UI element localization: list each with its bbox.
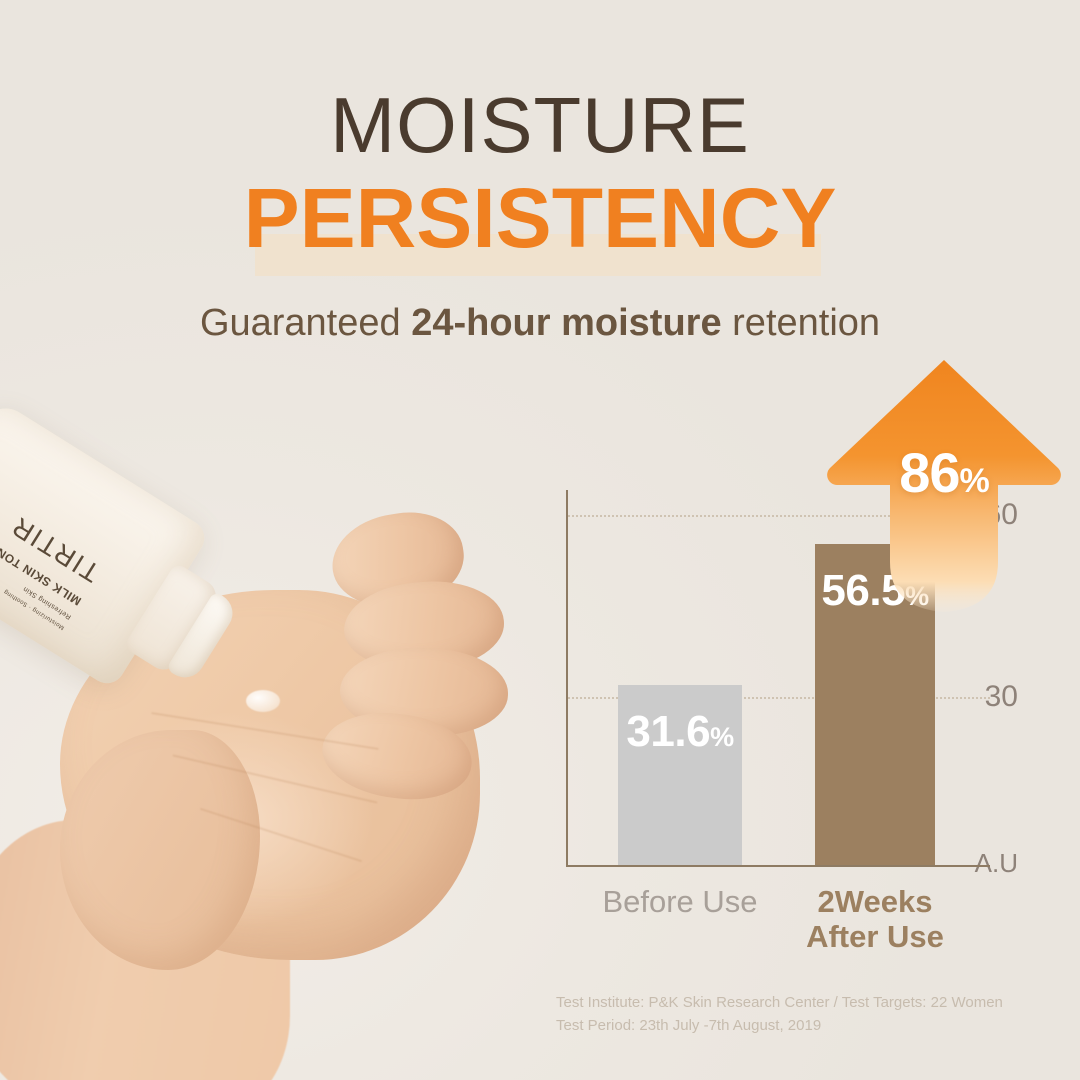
category-label-line-2: After Use [793, 920, 957, 955]
headline-block: MOISTURE PERSISTENCY Guaranteed 24-hour … [0, 88, 1080, 345]
bottle-brand-name: TIRTIR [5, 510, 105, 588]
footnote-line-2: Test Period: 23th July -7th August, 2019 [556, 1015, 1056, 1038]
headline-line-1: MOISTURE [0, 88, 1080, 162]
subtitle-emphasis: 24-hour moisture [411, 302, 721, 344]
toner-droplet [246, 690, 280, 712]
product-photo: Moisturizing · Soothing Refreshing Skin … [0, 300, 560, 1080]
poster-canvas: Moisturizing · Soothing Refreshing Skin … [0, 0, 1080, 1080]
headline-accent-row: PERSISTENCY [0, 176, 1080, 268]
subtitle-prefix: Guaranteed [200, 302, 411, 344]
y-tick-30: 30 [962, 680, 1018, 714]
footnote-line-1: Test Institute: P&K Skin Research Center… [556, 992, 1056, 1015]
subtitle-suffix: retention [722, 302, 880, 344]
subtitle: Guaranteed 24-hour moisture retention [0, 302, 1080, 345]
increase-arrow-badge: 86% [826, 356, 1062, 618]
bar-before-use: 31.6% [618, 685, 742, 865]
study-footnote: Test Institute: P&K Skin Research Center… [556, 992, 1056, 1037]
category-label-before-use: Before Use [598, 885, 762, 920]
bar-value-percent: % [710, 722, 734, 752]
y-axis-line [566, 490, 568, 865]
bar-value-before-use: 31.6% [618, 707, 742, 757]
y-axis-unit-label: A.U [962, 848, 1018, 879]
bar-value-number: 31.6 [626, 707, 710, 756]
badge-value: 86% [826, 440, 1062, 505]
badge-value-percent: % [960, 462, 989, 500]
badge-value-number: 86 [899, 441, 959, 504]
category-label-after-use: 2Weeks After Use [793, 885, 957, 954]
category-label-line-1: 2Weeks [793, 885, 957, 920]
headline-line-2: PERSISTENCY [0, 176, 1080, 260]
x-axis-line [566, 865, 990, 867]
